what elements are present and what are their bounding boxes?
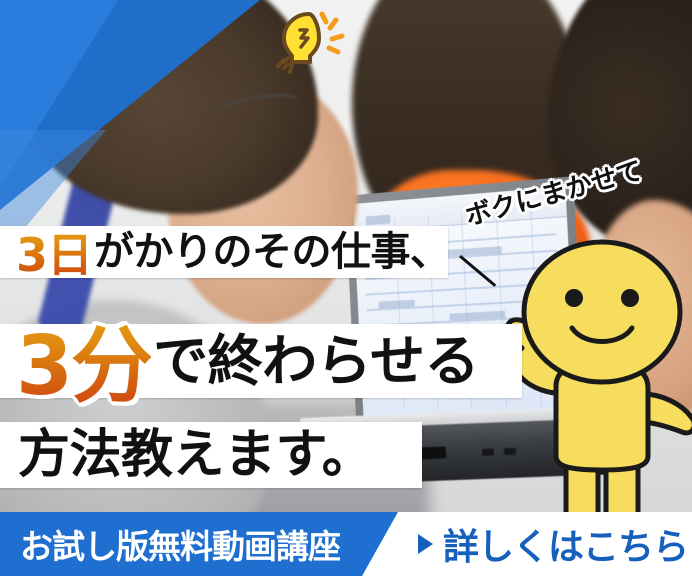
headline-accent-3minutes: 3分 [16,299,151,418]
headline-line-1-text: がかりのその仕事、 [94,232,450,272]
cta-bar[interactable]: お試し版無料動画講座 詳しくはこちら [0,512,692,576]
cta-link[interactable]: 詳しくはこちら [418,512,688,576]
headline-accent-3days: 3日 [16,219,92,285]
headline-line-2: 3分 で終わらせる [0,324,522,398]
cta-link-label: 詳しくはこちら [443,518,688,570]
ad-banner[interactable]: ボクにまかせて 3日 がかりのその仕事、 3 [0,0,692,576]
headline-line-2-text: で終わらせる [153,334,479,389]
headline-line-3: 方法教えます。 [0,422,422,488]
yellow-mascot-character [494,236,692,536]
play-triangle-icon [418,534,433,554]
lightbulb-icon [262,6,358,74]
headline-line-3-text: 方法教えます。 [18,429,373,481]
cta-badge[interactable]: お試し版無料動画講座 [0,512,430,576]
cta-badge-label: お試し版無料動画講座 [0,520,340,568]
headline-line-1: 3日 がかりのその仕事、 [0,226,448,278]
